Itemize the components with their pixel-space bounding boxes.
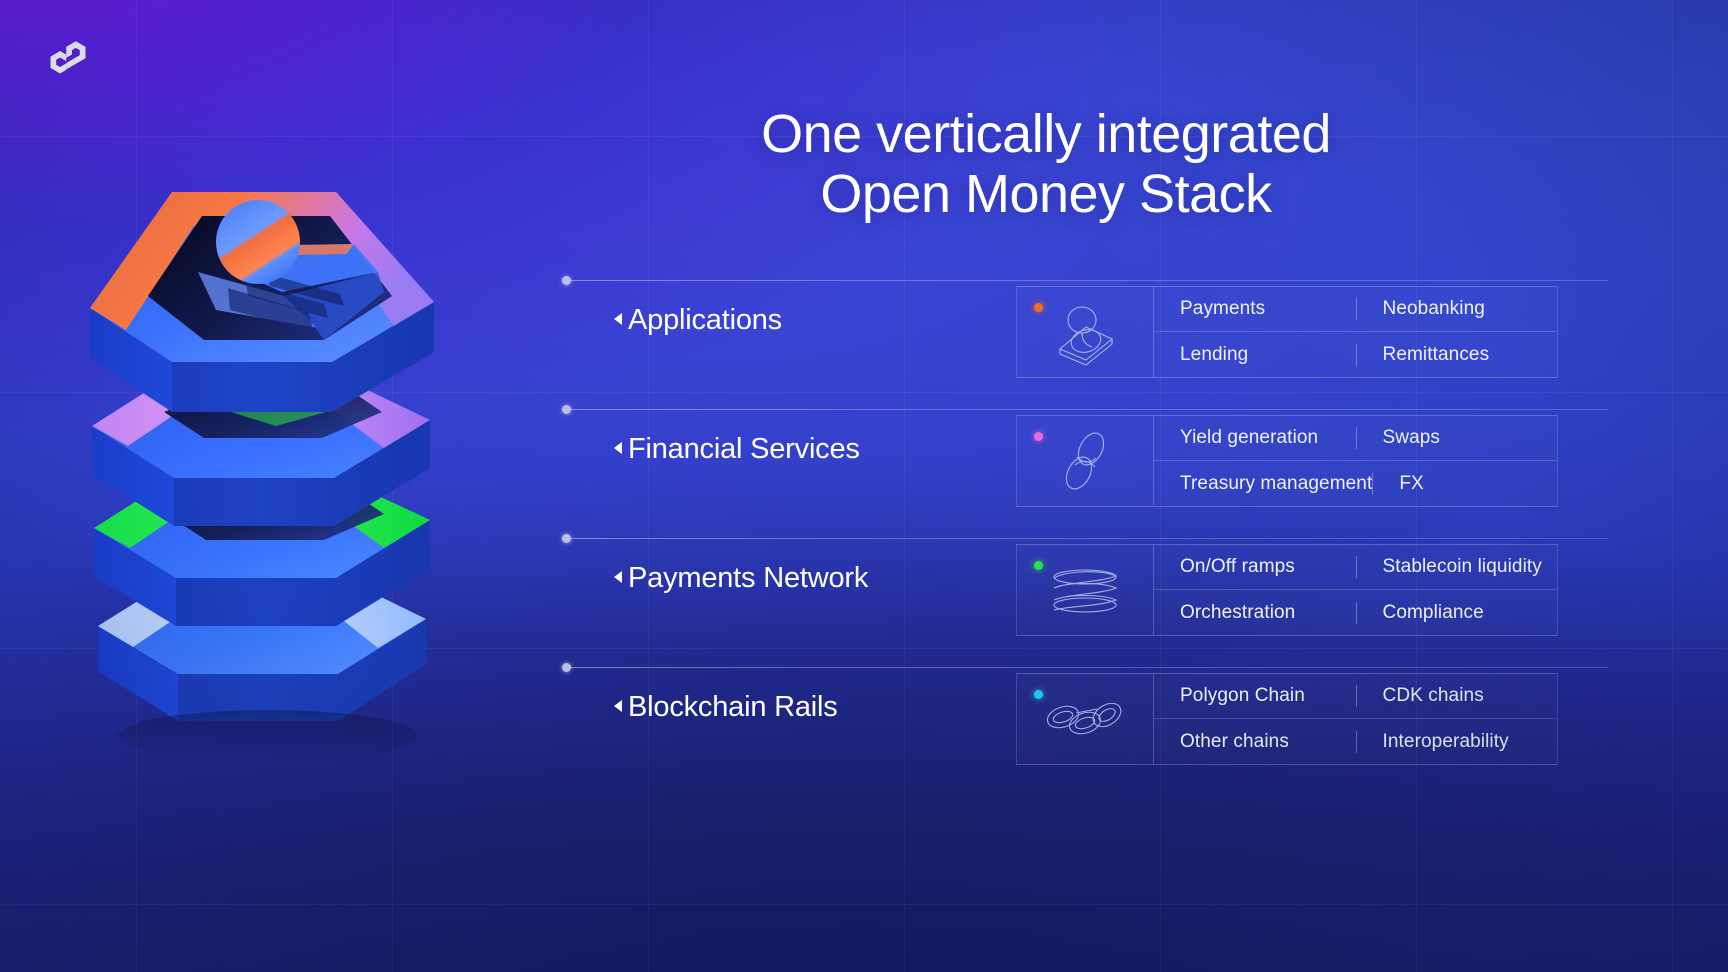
tag-row: Lending Remittances [1154, 332, 1557, 377]
stack-layer-financial-services[interactable]: Financial Services Yield generation Swa [566, 409, 1608, 538]
headline-line-2: Open Money Stack [596, 164, 1496, 224]
tag-item[interactable]: CDK chains [1356, 685, 1558, 707]
polygon-logo [40, 36, 96, 92]
tag-item[interactable]: Lending [1154, 344, 1356, 366]
tag-item[interactable]: Neobanking [1356, 298, 1558, 320]
open-money-stack-list: Applications Payments Neob [566, 280, 1608, 796]
layer-title-applications: Applications [614, 304, 1014, 337]
stack-layer-payments-network[interactable]: Payments Network On/Off ramps Stablecoin… [566, 538, 1608, 667]
tag-item[interactable]: On/Off ramps [1154, 556, 1356, 578]
icon-cell [1016, 545, 1154, 635]
tag-grid: On/Off ramps Stablecoin liquidity Orches… [1154, 545, 1557, 635]
tag-grid: Yield generation Swaps Treasury manageme… [1154, 416, 1557, 506]
layer-detail-panel: On/Off ramps Stablecoin liquidity Orches… [1016, 544, 1558, 636]
icon-cell [1016, 287, 1154, 377]
row-dot-marker [562, 663, 571, 672]
stack-layer-applications[interactable]: Applications Payments Neob [566, 280, 1608, 409]
chain-links-icon [1039, 687, 1131, 751]
triangle-marker-icon [614, 700, 622, 712]
tag-item[interactable]: Yield generation [1154, 427, 1356, 449]
tag-row: Treasury management FX [1154, 461, 1557, 506]
row-divider [566, 280, 1608, 281]
row-dot-marker [562, 405, 571, 414]
accent-dot [1034, 432, 1043, 441]
tag-row: Orchestration Compliance [1154, 590, 1557, 635]
tag-row: Payments Neobanking [1154, 287, 1557, 332]
row-dot-marker [562, 534, 571, 543]
stacked-discs-icon [1042, 297, 1128, 367]
tag-item[interactable]: Swaps [1356, 427, 1558, 449]
tag-row: Yield generation Swaps [1154, 416, 1557, 461]
tag-item[interactable]: Remittances [1356, 344, 1558, 366]
tag-item[interactable]: Interoperability [1356, 731, 1558, 753]
layer-label: Payments Network [628, 562, 868, 595]
tag-item[interactable]: Payments [1154, 298, 1356, 320]
layer-label: Financial Services [628, 433, 860, 466]
row-divider [566, 538, 1608, 539]
tag-row: Polygon Chain CDK chains [1154, 674, 1557, 719]
stack-layer-blockchain-rails[interactable]: Blockchain Rails [566, 667, 1608, 796]
tag-item[interactable]: Orchestration [1154, 602, 1356, 624]
triangle-marker-icon [614, 442, 622, 454]
tag-grid: Payments Neobanking Lending Remittances [1154, 287, 1557, 377]
page-title: One vertically integrated Open Money Sta… [596, 104, 1496, 225]
tag-row: On/Off ramps Stablecoin liquidity [1154, 545, 1557, 590]
layer-label: Applications [628, 304, 782, 337]
tag-item[interactable]: FX [1372, 473, 1557, 495]
tag-item[interactable]: Polygon Chain [1154, 685, 1356, 707]
row-divider [566, 667, 1608, 668]
row-divider [566, 409, 1608, 410]
layer-title-financial-services: Financial Services [614, 433, 1014, 466]
triangle-marker-icon [614, 571, 622, 583]
tag-item[interactable]: Other chains [1154, 731, 1356, 753]
layer-detail-panel: Polygon Chain CDK chains Other chains In… [1016, 673, 1558, 765]
row-dot-marker [562, 276, 571, 285]
tag-item[interactable]: Compliance [1356, 602, 1558, 624]
tag-item[interactable]: Treasury management [1154, 473, 1372, 495]
headline-line-1: One vertically integrated [761, 104, 1331, 164]
icon-cell [1016, 674, 1154, 764]
hexagon-layer-stack-3d [78, 96, 478, 776]
layer-detail-panel: Payments Neobanking Lending Remittances [1016, 286, 1558, 378]
triangle-marker-icon [614, 313, 622, 325]
icon-cell [1016, 416, 1154, 506]
layer-title-payments-network: Payments Network [614, 562, 1014, 595]
layer-label: Blockchain Rails [628, 691, 838, 724]
tag-row: Other chains Interoperability [1154, 719, 1557, 764]
tag-item[interactable]: Stablecoin liquidity [1356, 556, 1558, 578]
layer-detail-panel: Yield generation Swaps Treasury manageme… [1016, 415, 1558, 507]
tag-grid: Polygon Chain CDK chains Other chains In… [1154, 674, 1557, 764]
infinity-loop-icon [1049, 425, 1121, 497]
slide-canvas: One vertically integrated Open Money Sta… [0, 0, 1728, 972]
layer-title-blockchain-rails: Blockchain Rails [614, 691, 1014, 724]
spring-coil-icon [1040, 558, 1130, 622]
